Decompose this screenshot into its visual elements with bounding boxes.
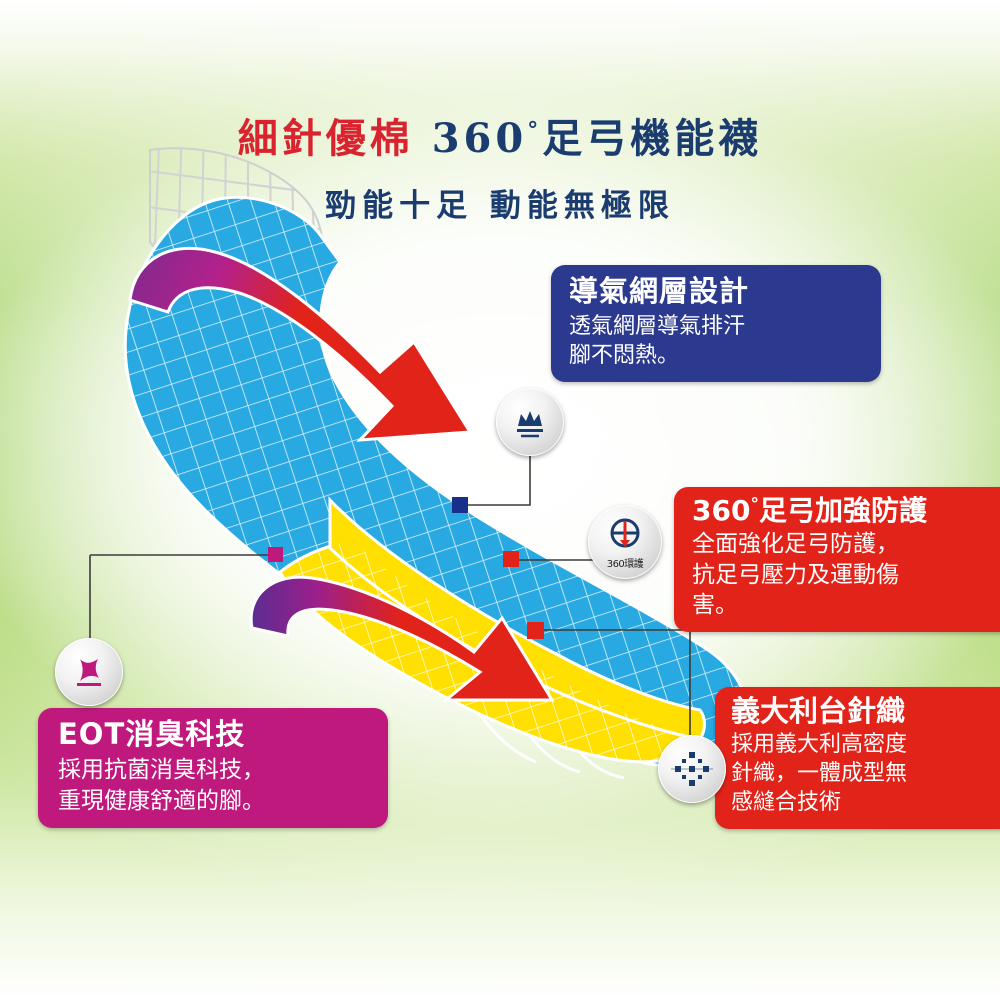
callout-vent-heading: 導氣網層設計: [569, 275, 867, 308]
callout-eot-body-line1: 採用抗菌消臭科技，: [58, 755, 376, 785]
eot-deodorant-icon-badge: [55, 638, 123, 706]
seamless-knit-icon-badge: [658, 735, 726, 803]
seamless-knit-icon: [669, 746, 715, 792]
callout-arch360-body-line1: 全面強化足弓防護，: [692, 529, 1000, 559]
product-infographic-poster: 細針優棉 360°足弓機能襪 勁能十足 動能無極限 導氣網層設計 透氣網層導氣排…: [0, 0, 1000, 1000]
vent-crown-icon: [508, 400, 552, 444]
callout-vent: 導氣網層設計 透氣網層導氣排汗 腳不悶熱。: [551, 265, 881, 382]
eot-deodorant-icon: [68, 651, 110, 693]
callout-vent-body-line2: 腳不悶熱。: [569, 341, 867, 370]
callout-knit-body-line3: 感縫合技術: [731, 788, 1000, 817]
title-suffix: 足弓機能襪: [542, 115, 762, 162]
callout-arch360-body-line3: 害。: [692, 590, 1000, 620]
callout-eot: EOT消臭科技 採用抗菌消臭科技， 重現健康舒適的腳。: [38, 708, 388, 828]
callout-eot-heading: EOT消臭科技: [58, 718, 376, 751]
callout-arch360-degree-symbol: °: [750, 495, 759, 515]
callout-vent-body-line1: 透氣網層導氣排汗: [569, 312, 867, 341]
360-protect-icon-badge: 360環護: [588, 505, 662, 579]
page-subtitle: 勁能十足 動能無極限: [0, 180, 1000, 225]
360-protect-icon: [601, 513, 649, 561]
vent-crown-icon-badge: [496, 388, 564, 456]
callout-knit-heading: 義大利台針織: [731, 695, 1000, 728]
poster-title-block: 細針優棉 360°足弓機能襪 勁能十足 動能無極限: [0, 106, 1000, 225]
360-protect-icon-caption: 360環護: [588, 555, 662, 570]
callout-knit-body-line1: 採用義大利高密度: [731, 730, 1000, 759]
page-title: 細針優棉 360°足弓機能襪: [0, 106, 1000, 164]
title-prefix: 細針優棉: [238, 115, 414, 162]
title-degree-symbol: °: [527, 118, 542, 144]
callout-arch360: 360°足弓加強防護 全面強化足弓防護， 抗足弓壓力及運動傷 害。: [674, 487, 1000, 632]
callout-arch360-body-line2: 抗足弓壓力及運動傷: [692, 560, 1000, 590]
callout-arch360-heading-number: 360: [692, 494, 750, 527]
callout-arch360-heading: 360°足弓加強防護: [692, 495, 1000, 527]
callout-knit: 義大利台針織 採用義大利高密度 針織，一體成型無 感縫合技術: [715, 687, 1000, 829]
callout-arch360-heading-text: 足弓加強防護: [759, 494, 927, 527]
callout-knit-body-line2: 針織，一體成型無: [731, 759, 1000, 788]
callout-eot-body-line2: 重現健康舒適的腳。: [58, 786, 376, 816]
title-number: 360: [432, 115, 528, 162]
